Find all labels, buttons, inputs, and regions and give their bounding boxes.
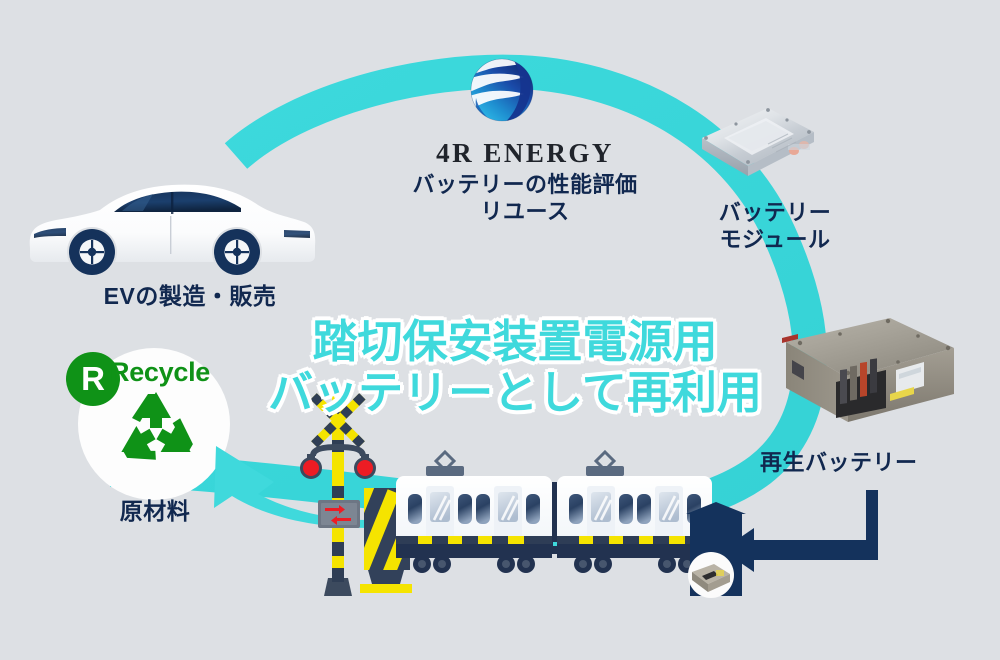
- battery-inside-photo: [688, 552, 734, 598]
- cabinet-battery-inset: [688, 552, 734, 598]
- brand-wordmark: 4R ENERGY: [390, 138, 660, 169]
- page-title: 踏切保安装置電源用 バッテリーとして再利用: [255, 266, 775, 469]
- silver-battery-module-photo: [690, 100, 820, 195]
- recycle-word-label: Recycle: [110, 357, 210, 388]
- metal-battery-box-photo: [778, 310, 963, 445]
- label-battery-module: バッテリー モジュール: [660, 200, 890, 254]
- two-car-commuter-train: [396, 452, 712, 590]
- headline-line-2: バッテリーとして再利用: [255, 368, 775, 419]
- label-regenerated-battery: 再生バッテリー: [760, 450, 1000, 477]
- recycle-symbol-icon: [110, 388, 202, 476]
- diagram-canvas: EVの製造・販売 4R ENERGY バッテリーの性能評価 リユース: [0, 0, 1000, 660]
- headline-line-1: 踏切保安装置電源用: [312, 316, 717, 367]
- 4r-energy-globe-logo: [452, 42, 552, 142]
- train-car-1: [396, 476, 552, 573]
